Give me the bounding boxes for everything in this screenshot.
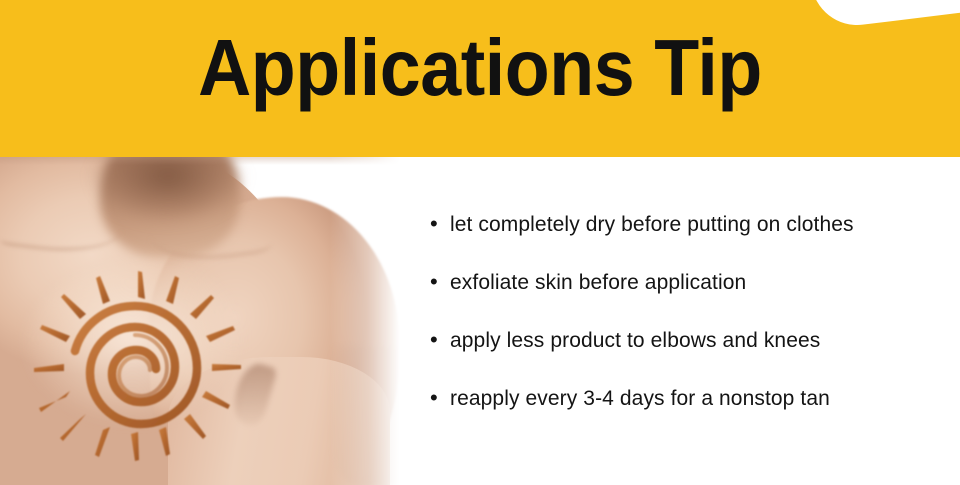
tips-list: • let completely dry before putting on c… — [430, 213, 950, 445]
list-item: • reapply every 3-4 days for a nonstop t… — [430, 387, 950, 445]
header-banner: Applications Tip — [0, 0, 960, 157]
banner-corner-notch — [812, 0, 960, 30]
bullet-icon: • — [430, 213, 450, 235]
photo-right-fade — [330, 157, 400, 485]
tip-text: exfoliate skin before application — [450, 272, 746, 293]
bullet-icon: • — [430, 329, 450, 351]
bullet-icon: • — [430, 387, 450, 409]
list-item: • apply less product to elbows and knees — [430, 329, 950, 387]
sun-drawing — [14, 257, 264, 472]
list-item: • exfoliate skin before application — [430, 271, 950, 329]
bullet-icon: • — [430, 271, 450, 293]
applications-tip-banner: Applications Tip — [0, 0, 960, 485]
tip-text: apply less product to elbows and knees — [450, 330, 820, 351]
hero-photo — [0, 157, 400, 485]
tip-text: reapply every 3-4 days for a nonstop tan — [450, 388, 830, 409]
page-title: Applications Tip — [38, 28, 921, 108]
list-item: • let completely dry before putting on c… — [430, 213, 950, 271]
tip-text: let completely dry before putting on clo… — [450, 214, 854, 235]
